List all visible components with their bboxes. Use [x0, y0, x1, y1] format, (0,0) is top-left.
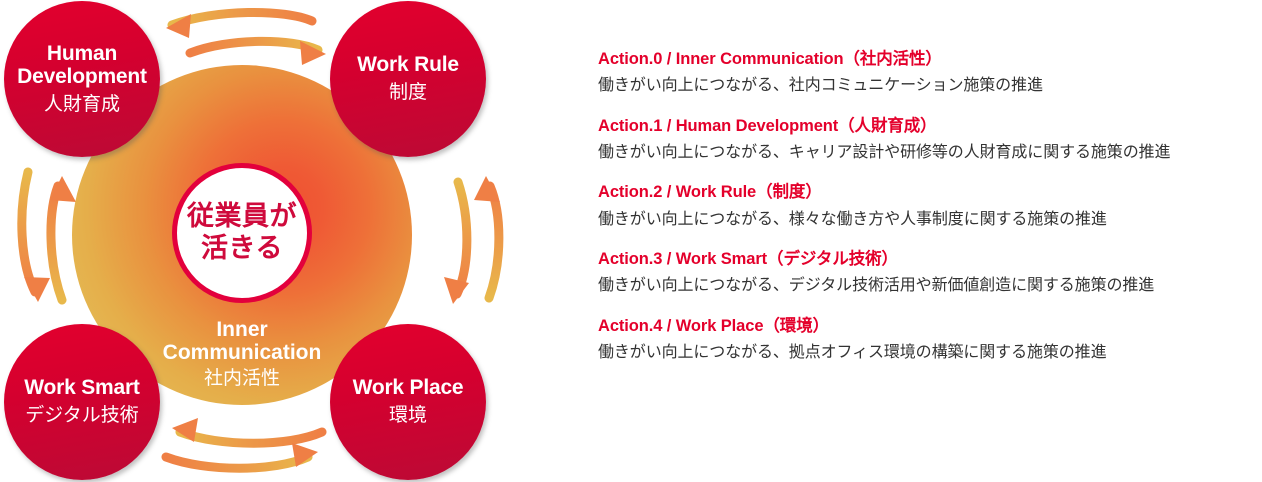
node-work-place[interactable]: Work Place 環境 [330, 324, 486, 480]
action-title-0: Action.0 / Inner Communication（社内活性） [598, 48, 1254, 70]
top-right-arrow [190, 41, 326, 65]
action-title-4: Action.4 / Work Place（環境） [598, 315, 1254, 337]
action-item-2: Action.2 / Work Rule（制度） 働きがい向上につながる、様々な… [598, 181, 1254, 231]
infographic-page: Inner Communication 社内活性 従業員が 活きる Human … [0, 0, 1262, 482]
cycle-diagram: Inner Communication 社内活性 従業員が 活きる Human … [0, 0, 520, 482]
action-list: Action.0 / Inner Communication（社内活性） 働きが… [598, 48, 1254, 364]
action-description-3: 働きがい向上につながる、デジタル技術活用や新価値創造に関する施策の推進 [598, 275, 1254, 297]
bottom-left-arrow [172, 418, 322, 443]
node-work-rule-en: Work Rule [351, 53, 465, 77]
node-work-smart-en: Work Smart [18, 376, 145, 400]
node-human-development[interactable]: Human Development 人財育成 [4, 1, 160, 157]
right-up-arrow [474, 176, 500, 298]
action-description-0: 働きがい向上につながる、社内コミュニケーション施策の推進 [598, 75, 1254, 97]
right-down-arrow [444, 182, 469, 304]
action-title-1: Action.1 / Human Development（人財育成） [598, 115, 1254, 137]
inner-communication-label: Inner Communication 社内活性 [132, 318, 352, 391]
node-work-smart-ja: デジタル技術 [25, 405, 139, 428]
inner-communication-label-en-line2: Communication [132, 341, 352, 364]
core-circle: 従業員が 活きる [172, 163, 312, 303]
node-work-rule-ja: 制度 [389, 82, 427, 105]
node-work-rule[interactable]: Work Rule 制度 [330, 1, 486, 157]
node-work-place-en: Work Place [347, 376, 470, 400]
action-title-2: Action.2 / Work Rule（制度） [598, 181, 1254, 203]
action-description-1: 働きがい向上につながる、キャリア設計や研修等の人財育成に関する施策の推進 [598, 142, 1254, 164]
action-title-3: Action.3 / Work Smart（デジタル技術） [598, 248, 1254, 270]
action-item-3: Action.3 / Work Smart（デジタル技術） 働きがい向上につなが… [598, 248, 1254, 298]
action-item-1: Action.1 / Human Development（人財育成） 働きがい向… [598, 115, 1254, 165]
left-down-arrow [22, 172, 50, 302]
action-item-4: Action.4 / Work Place（環境） 働きがい向上につながる、拠点… [598, 315, 1254, 365]
node-human-development-ja: 人財育成 [44, 94, 120, 117]
action-description-2: 働きがい向上につながる、様々な働き方や人事制度に関する施策の推進 [598, 209, 1254, 231]
core-text-line2: 活きる [201, 233, 283, 265]
node-work-place-ja: 環境 [389, 405, 427, 428]
action-item-0: Action.0 / Inner Communication（社内活性） 働きが… [598, 48, 1254, 98]
node-human-development-en-line1: Human [41, 42, 123, 66]
inner-communication-label-en-line1: Inner [132, 318, 352, 341]
top-left-arrow [166, 12, 312, 38]
node-human-development-en-line2: Development [11, 65, 153, 89]
core-text-line1: 従業員が [187, 201, 297, 233]
action-description-4: 働きがい向上につながる、拠点オフィス環境の構築に関する施策の推進 [598, 342, 1254, 364]
inner-communication-label-ja: 社内活性 [132, 367, 352, 391]
